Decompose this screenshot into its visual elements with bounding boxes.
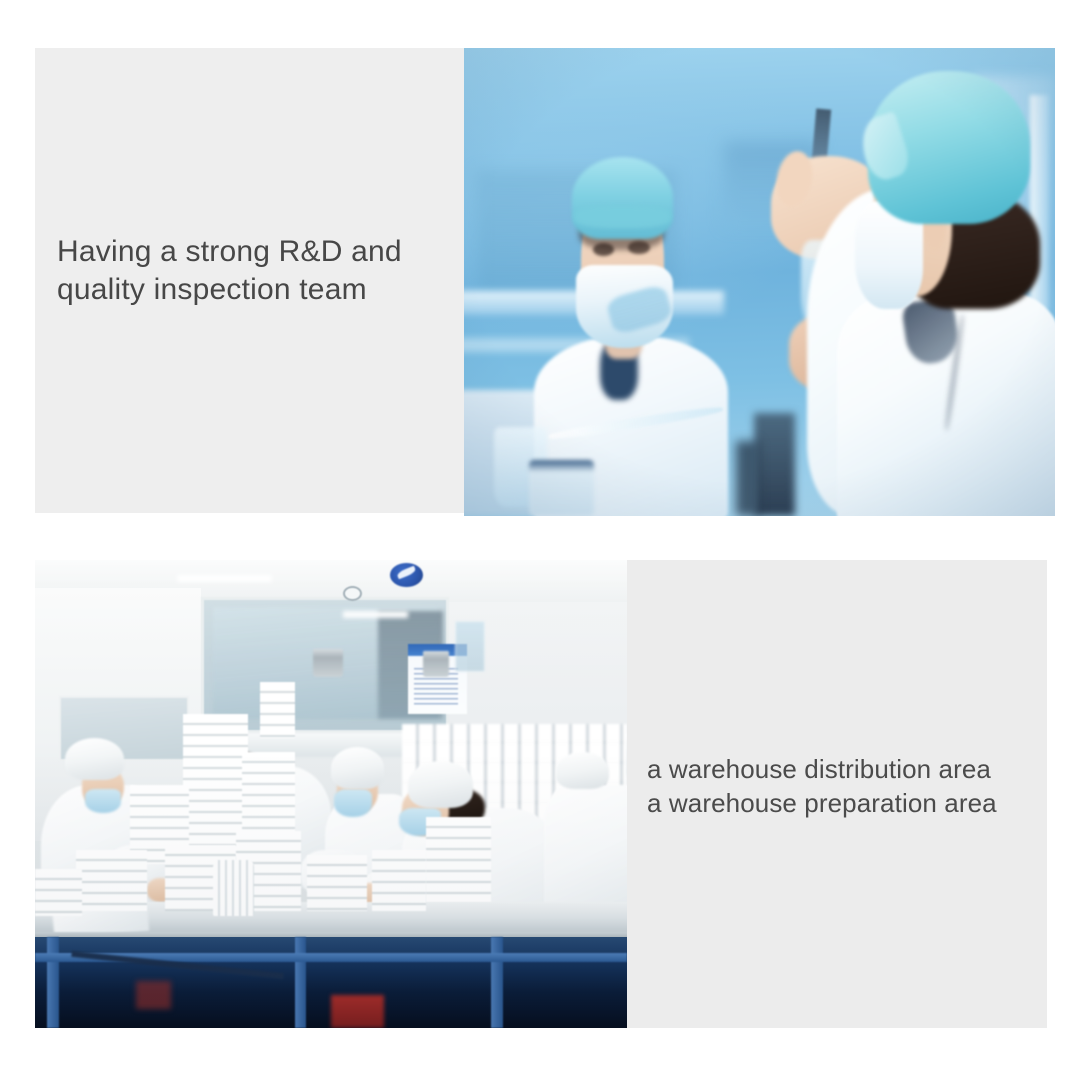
warehouse-photo-tint	[35, 560, 627, 1028]
bottom-section: a warehouse distribution area a warehous…	[35, 560, 1047, 1028]
lab-inspection-photo	[464, 48, 1055, 516]
top-section: Having a strong R&D and quality inspecti…	[35, 48, 1055, 516]
top-caption-panel: Having a strong R&D and quality inspecti…	[35, 48, 465, 513]
bottom-caption-panel: a warehouse distribution area a warehous…	[627, 560, 1047, 1028]
top-caption-text: Having a strong R&D and quality inspecti…	[57, 233, 457, 310]
warehouse-packing-photo	[35, 560, 627, 1028]
bottom-caption-text: a warehouse distribution area a warehous…	[647, 752, 1047, 821]
lab-photo-vignette	[464, 48, 1055, 516]
